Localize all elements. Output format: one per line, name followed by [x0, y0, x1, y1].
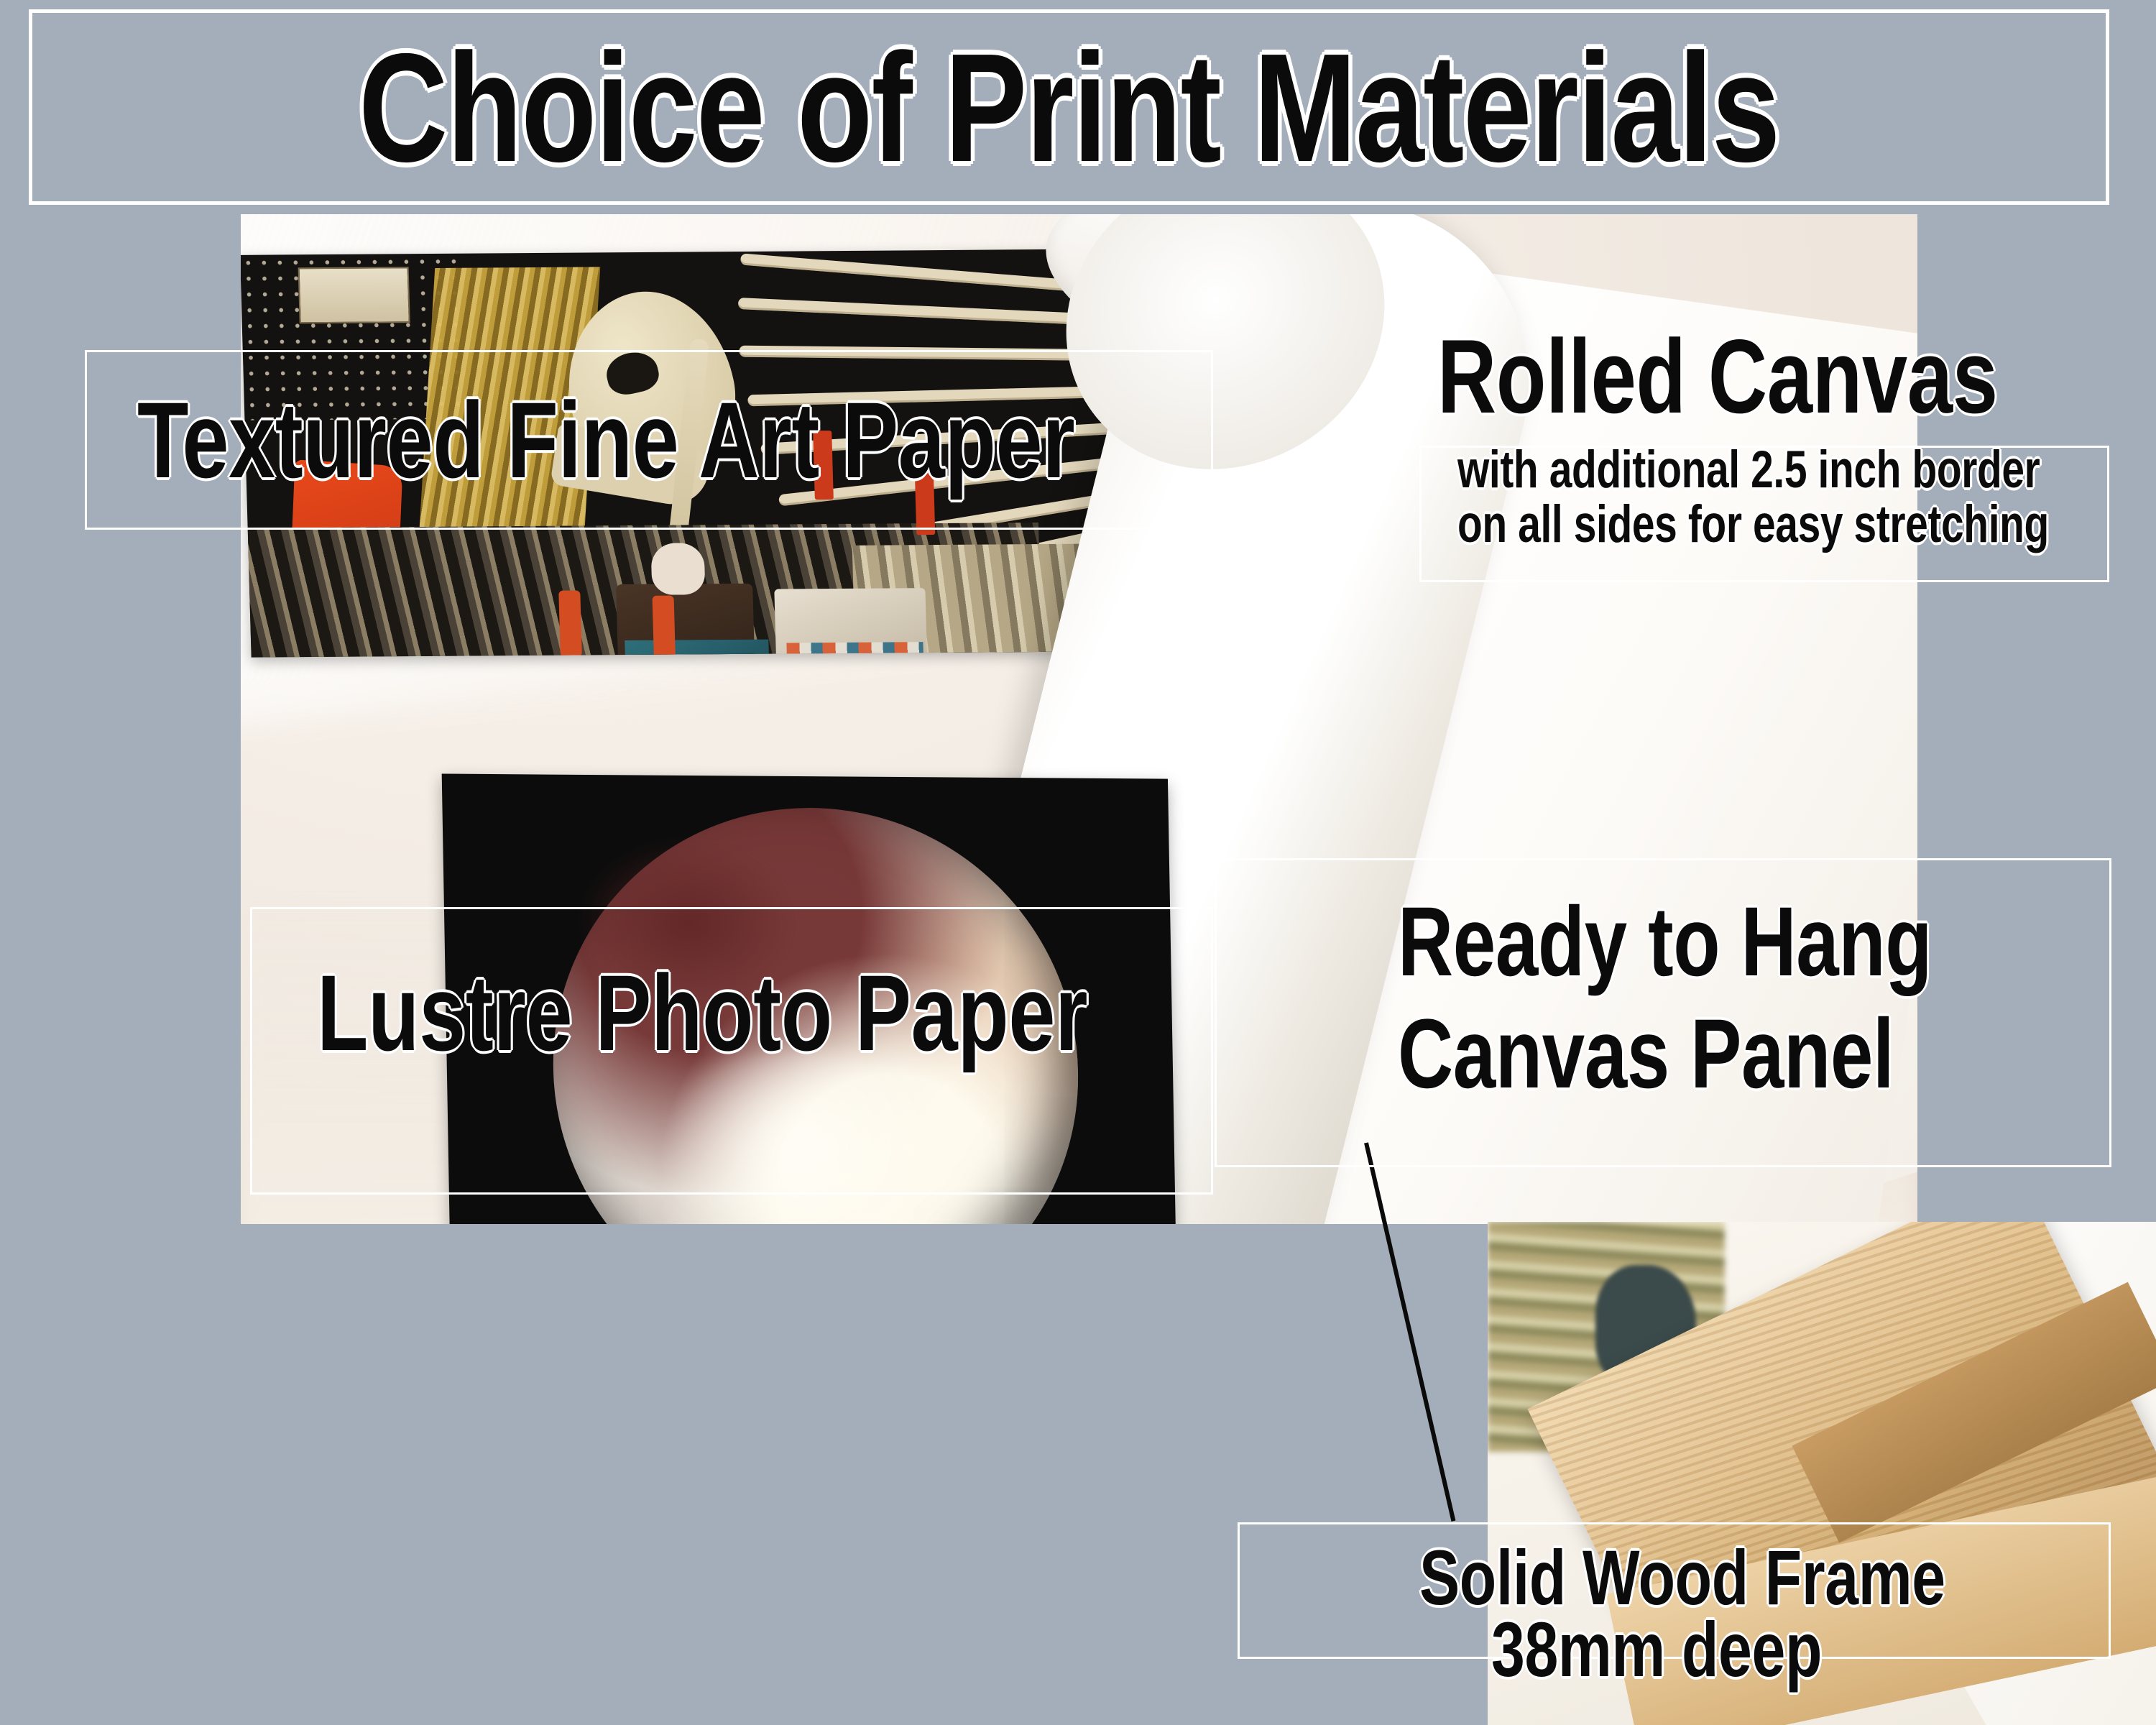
label-ready-to-hang-line2: Canvas Panel: [1398, 998, 1894, 1110]
print-samurai-head: [650, 543, 705, 594]
title-box: Choice of Print Materials: [29, 9, 2109, 205]
label-ready-to-hang-line1: Ready to Hang: [1398, 885, 1932, 998]
page-title: Choice of Print Materials: [359, 30, 1779, 185]
label-box-lustre-photo-paper: Lustre Photo Paper: [250, 907, 1213, 1195]
label-box-textured-fine-art-paper: Textured Fine Art Paper: [85, 350, 1213, 530]
label-rolled-canvas-title: Rolled Canvas: [1437, 316, 1998, 437]
label-lustre-photo-paper: Lustre Photo Paper: [317, 951, 1087, 1075]
label-rolled-canvas-subtitle-line2: on all sides for easy stretching: [1457, 494, 2049, 554]
print-cartouche: [298, 267, 410, 323]
label-solid-wood-frame-line2: 38mm deep: [1491, 1604, 1822, 1694]
label-textured-fine-art-paper: Textured Fine Art Paper: [137, 378, 1074, 502]
label-rolled-canvas-subtitle-line1: with additional 2.5 inch border: [1457, 440, 2040, 500]
infographic-canvas: Choice of Print Materials: [0, 0, 2156, 1725]
